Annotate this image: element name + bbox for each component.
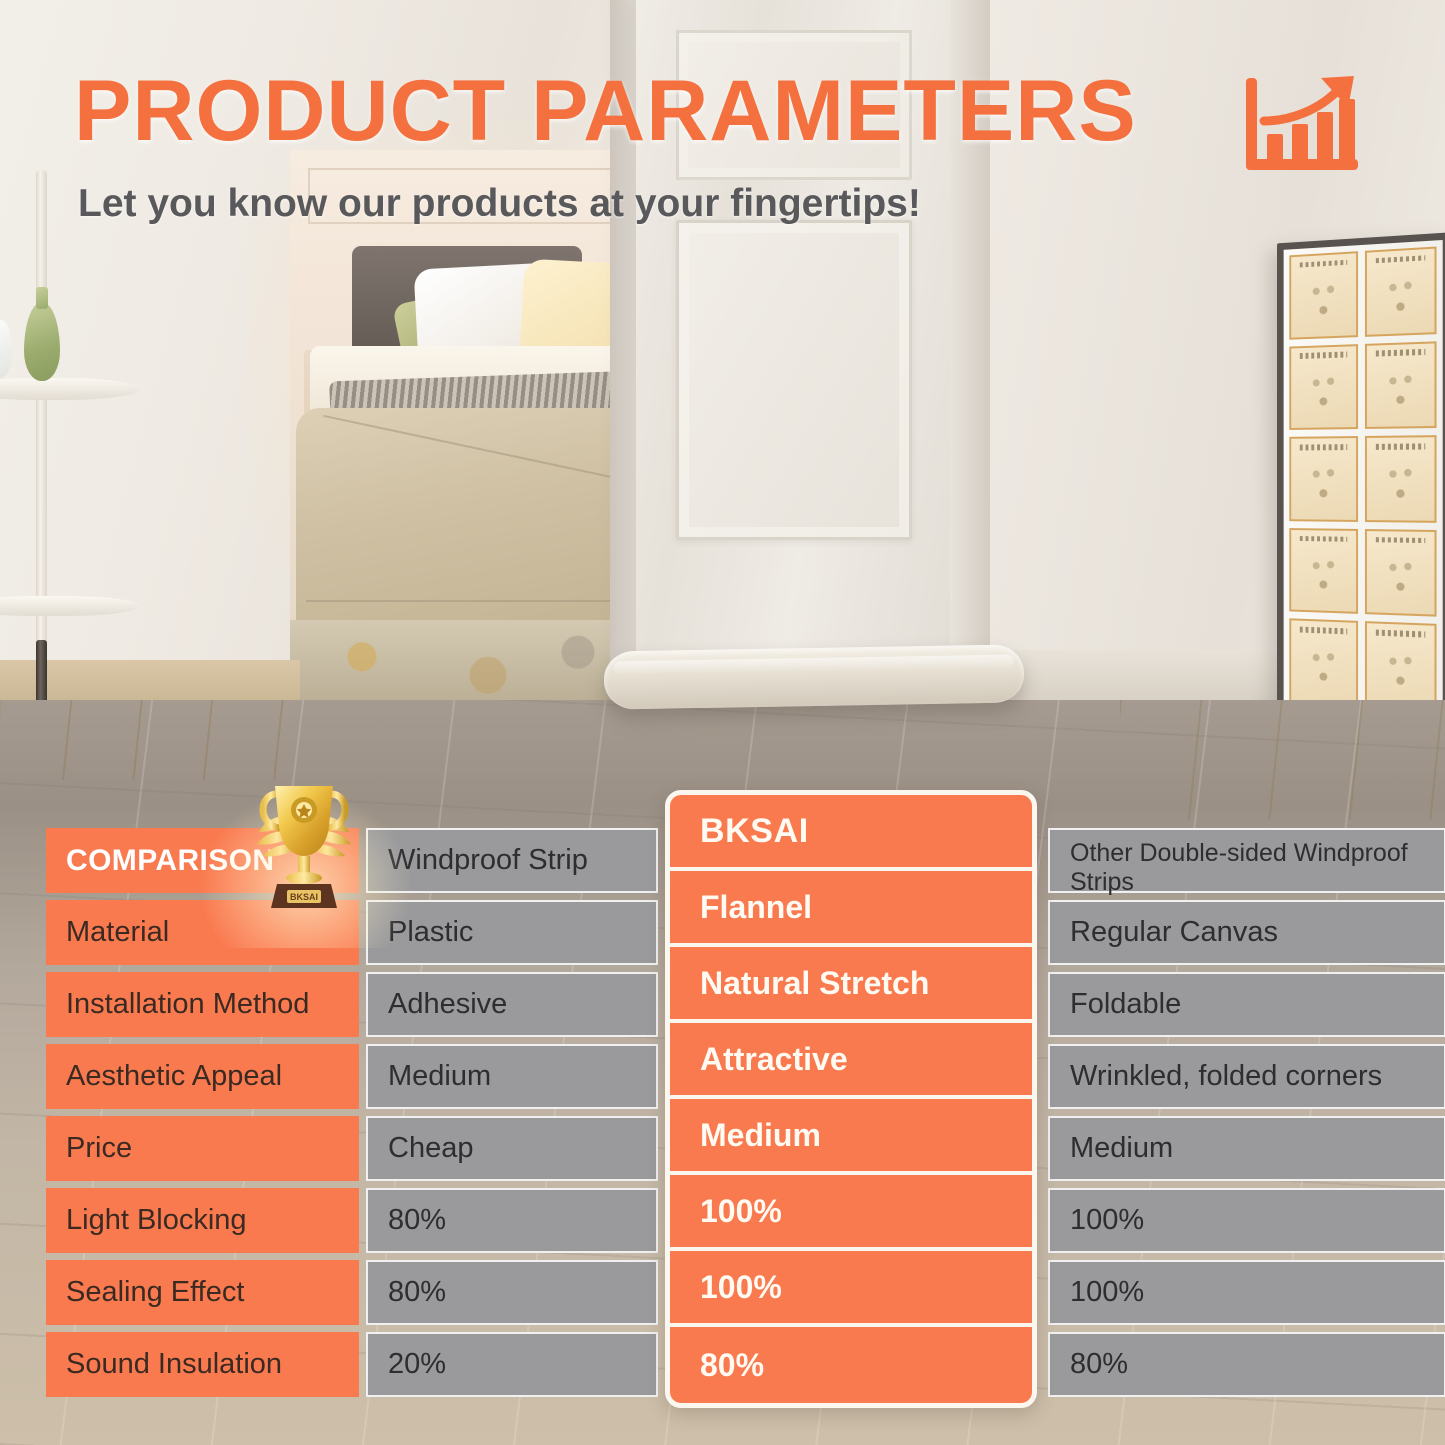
comparison-table: COMPARISON Material Installation Method … [46,828,1400,1412]
framed-matisse-poster [1277,232,1445,725]
table-column-other-strips: Other Double-sided Windproof Strips Regu… [1048,828,1445,1397]
door-panel-bottom [676,220,912,540]
poster-print-grid [1289,246,1436,711]
table-cell-value: 20% [366,1332,658,1397]
table-cell-value: Adhesive [366,972,658,1037]
page-subtitle: Let you know our products at your finger… [78,182,921,226]
table-column-windproof-strip: Windproof Strip Plastic Adhesive Medium … [366,828,658,1397]
table-column-bksai-highlighted: BKSAI Flannel Natural Stretch Attractive… [665,790,1037,1408]
shelf-post [36,170,47,710]
matisse-print [1289,619,1358,707]
bedroom-through-doorway [290,150,650,710]
table-cell-value: Cheap [366,1116,658,1181]
matisse-print [1365,341,1437,429]
table-row-label: Sealing Effect [46,1260,359,1325]
table-cell-value: 80% [366,1188,658,1253]
table-cell-value: Natural Stretch [670,947,1032,1023]
matisse-print [1365,435,1437,522]
green-vase [24,303,60,381]
matisse-print [1365,622,1437,712]
matisse-print [1289,344,1358,430]
growth-chart-icon [1238,72,1366,184]
table-column-labels: COMPARISON Material Installation Method … [46,828,359,1397]
table-cell-value: Foldable [1048,972,1445,1037]
wood-floor-left [0,700,300,780]
table-row-label: Light Blocking [46,1188,359,1253]
matisse-print [1289,528,1358,614]
table-row-label: Installation Method [46,972,359,1037]
table-row-label: Price [46,1116,359,1181]
door-draft-stopper-product [604,644,1025,709]
page-title: PRODUCT PARAMETERS [74,62,1137,161]
trophy-icon: BKSAI [243,770,365,910]
table-cell-value: 100% [1048,1260,1445,1325]
table-cell-value: 100% [1048,1188,1445,1253]
table-cell-value: Medium [366,1044,658,1109]
table-cell-value: 100% [670,1175,1032,1251]
matisse-print [1365,529,1437,617]
table-row-label: Sound Insulation [46,1332,359,1397]
table-cell-value: Attractive [670,1023,1032,1099]
table-cell-value: Wrinkled, folded corners [1048,1044,1445,1109]
table-cell-value: 80% [366,1260,658,1325]
table-cell-value: 80% [1048,1332,1445,1397]
trophy-nameplate-label: BKSAI [290,892,318,902]
table-header-bksai: BKSAI [670,795,1032,871]
beige-duvet [296,408,646,628]
area-rug [290,620,650,710]
table-header-windproof-strip: Windproof Strip [366,828,658,893]
table-cell-value: 100% [670,1251,1032,1327]
table-cell-value: Flannel [670,871,1032,947]
wood-floor-right [1120,700,1445,820]
matisse-print [1289,436,1358,522]
table-header-other-strips: Other Double-sided Windproof Strips [1048,828,1445,893]
table-row-label: Aesthetic Appeal [46,1044,359,1109]
table-cell-value: Plastic [366,900,658,965]
table-cell-value: Medium [670,1099,1032,1175]
table-cell-value: Medium [1048,1116,1445,1181]
matisse-print [1365,246,1437,336]
table-cell-value: Regular Canvas [1048,900,1445,965]
matisse-print [1289,251,1358,339]
table-cell-value: 80% [670,1327,1032,1403]
